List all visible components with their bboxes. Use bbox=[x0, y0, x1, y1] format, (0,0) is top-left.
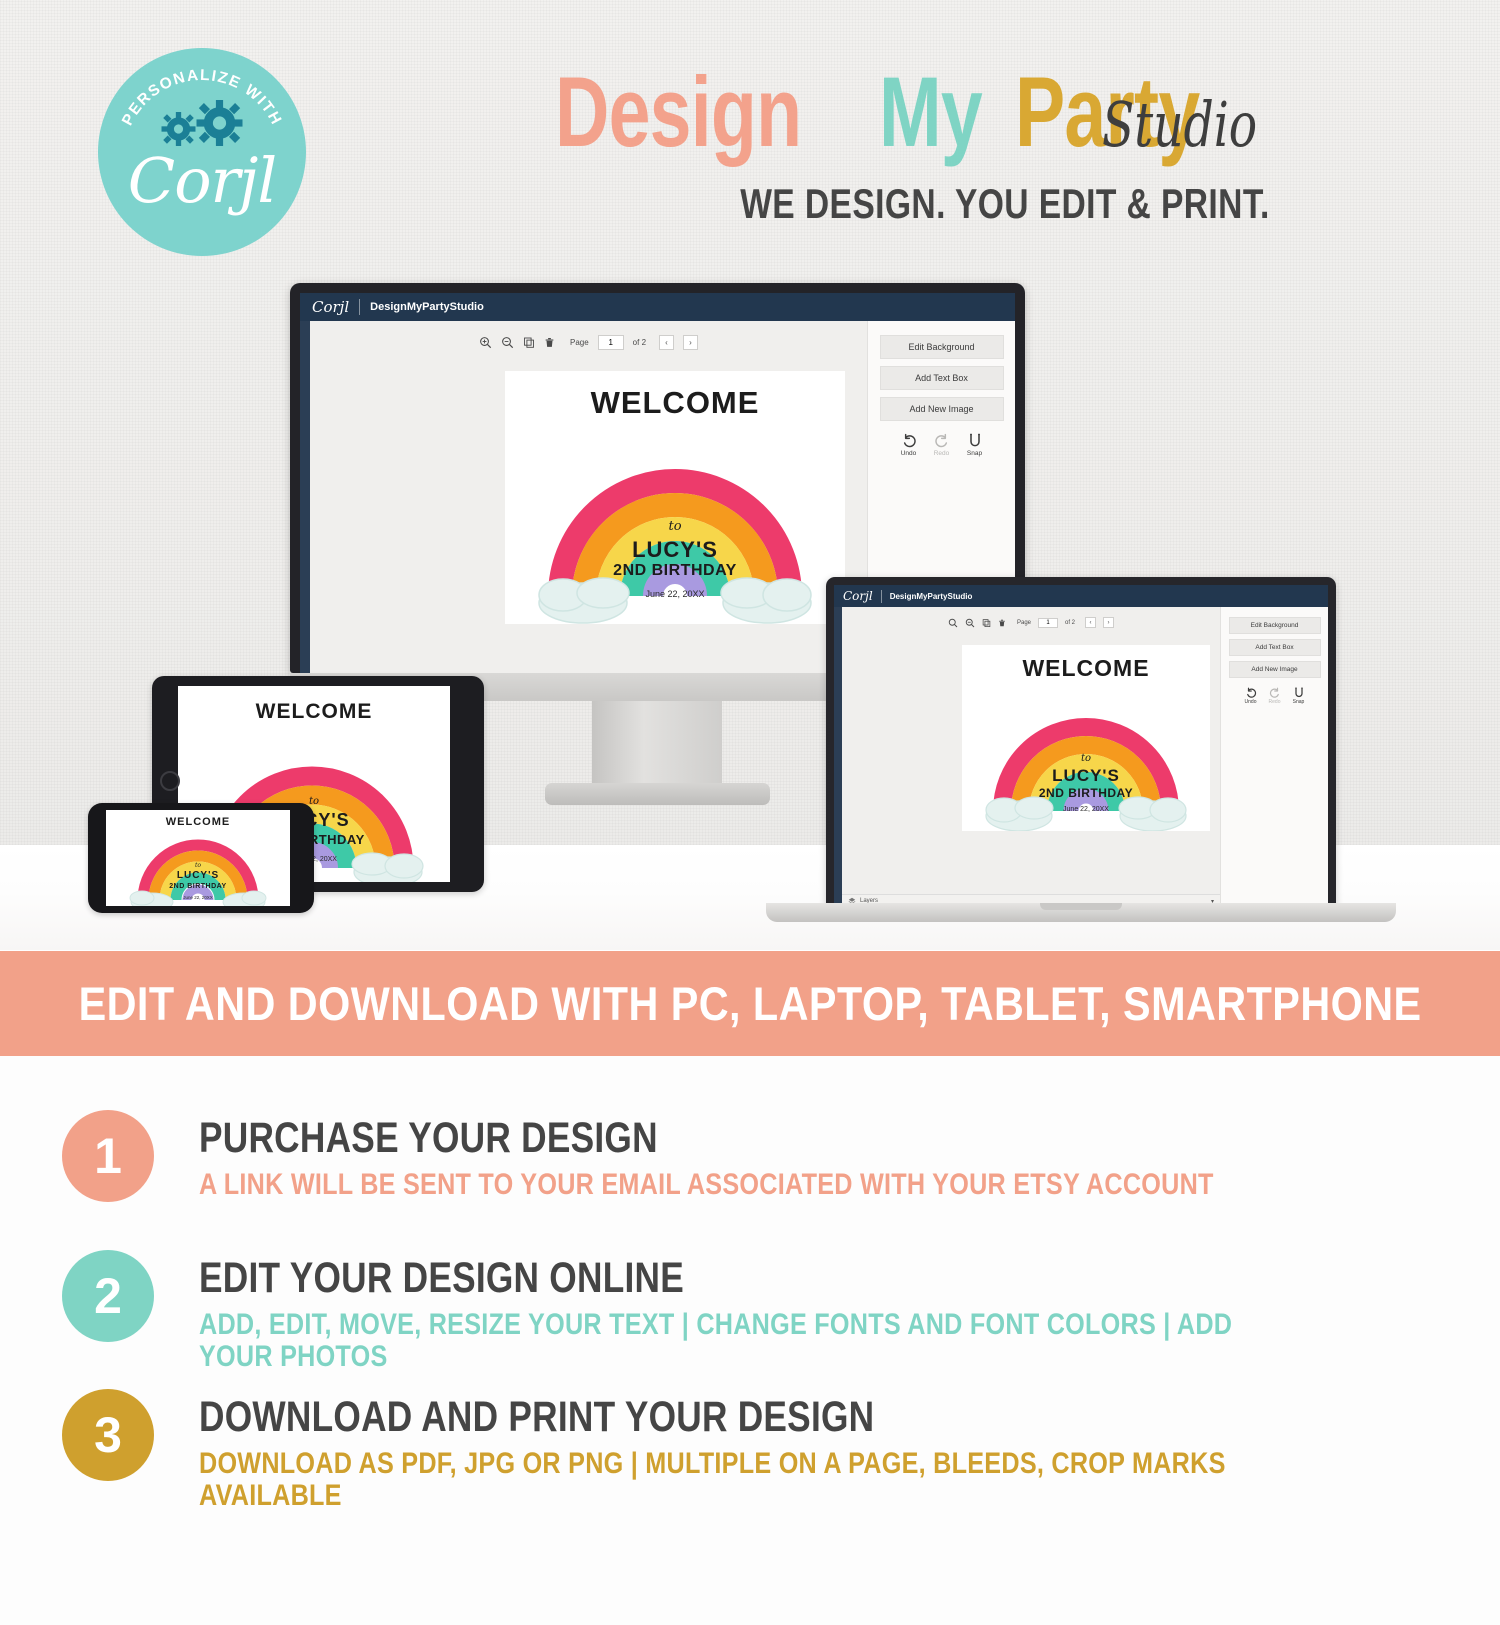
laptop-page-prev-button[interactable]: ‹ bbox=[1085, 617, 1096, 628]
design-to-text: to bbox=[505, 519, 845, 534]
laptop-redo-label: Redo bbox=[1269, 699, 1281, 705]
steps-section: 1 PURCHASE YOUR DESIGN A LINK WILL BE SE… bbox=[0, 1056, 1500, 1625]
step-1-subtitle: A LINK WILL BE SENT TO YOUR EMAIL ASSOCI… bbox=[199, 1169, 1214, 1201]
design-artwork[interactable]: WELCOME to bbox=[505, 371, 845, 624]
editor-brand-label: DesignMyPartyStudio bbox=[370, 301, 484, 313]
laptop-topbar-divider bbox=[881, 590, 882, 603]
laptop-snap-button[interactable]: Snap bbox=[1293, 687, 1305, 705]
add-text-box-button[interactable]: Add Text Box bbox=[880, 366, 1004, 390]
step-2-number-badge: 2 bbox=[62, 1250, 154, 1342]
laptop-redo-icon bbox=[1269, 687, 1281, 699]
laptop-editor-canvas[interactable]: Page 1 of 2 ‹ › WELCOME bbox=[842, 607, 1220, 907]
logo-part-studio: Studio bbox=[1102, 94, 1257, 156]
laptop-editor-right-panel: Edit Background Add Text Box Add New Ima… bbox=[1220, 607, 1328, 907]
page-next-button[interactable]: › bbox=[683, 335, 698, 350]
snap-label: Snap bbox=[967, 450, 982, 457]
laptop-rainbow-illustration bbox=[962, 645, 1210, 831]
design-occasion-text: 2ND BIRTHDAY bbox=[505, 562, 845, 580]
gear-icon-small bbox=[162, 112, 196, 146]
step-3-subtitle: DOWNLOAD AS PDF, JPG OR PNG | MULTIPLE O… bbox=[199, 1448, 1243, 1511]
snap-button[interactable]: Snap bbox=[967, 433, 983, 457]
laptop-page-total-label: of 2 bbox=[1065, 620, 1075, 626]
editor-canvas[interactable]: Page 1 of 2 ‹ › WELCOME bbox=[310, 321, 867, 673]
phone-design-to-text: to bbox=[106, 862, 290, 869]
laptop-design-occasion-text: 2ND BIRTHDAY bbox=[962, 786, 1210, 800]
badge-brand-script: Corjl bbox=[128, 144, 276, 217]
laptop-editor-toolbar: Page 1 of 2 ‹ › bbox=[842, 607, 1220, 628]
step-item-3: 3 DOWNLOAD AND PRINT YOUR DESIGN DOWNLOA… bbox=[62, 1389, 1442, 1511]
redo-button[interactable]: Redo bbox=[934, 433, 950, 457]
laptop-edit-background-button[interactable]: Edit Background bbox=[1229, 617, 1321, 634]
gears-group bbox=[162, 100, 243, 146]
laptop-trash-icon[interactable] bbox=[998, 618, 1006, 628]
laptop-redo-button[interactable]: Redo bbox=[1269, 687, 1281, 705]
edit-background-button[interactable]: Edit Background bbox=[880, 335, 1004, 359]
editor-topbar: Corjl DesignMyPartyStudio bbox=[300, 293, 1015, 321]
phone-design-artwork[interactable]: WELCOME to LUCY'S 2ND BIRTHDAY June 22, … bbox=[106, 810, 290, 906]
step-1-number-badge: 1 bbox=[62, 1110, 154, 1202]
laptop-snap-label: Snap bbox=[1293, 699, 1305, 705]
logo-part-my: My bbox=[879, 62, 982, 161]
redo-icon bbox=[934, 433, 950, 449]
editor-left-rail[interactable] bbox=[300, 321, 310, 673]
step-item-2: 2 EDIT YOUR DESIGN ONLINE ADD, EDIT, MOV… bbox=[62, 1250, 1442, 1372]
laptop-design-name-text: LUCY'S bbox=[962, 766, 1210, 786]
undo-button[interactable]: Undo bbox=[901, 433, 917, 457]
laptop-undo-label: Undo bbox=[1245, 699, 1257, 705]
step-1-title: PURCHASE YOUR DESIGN bbox=[199, 1116, 658, 1161]
laptop-design-date-text: June 22, 20XX bbox=[962, 806, 1210, 813]
laptop-editor-corjl-logo: Corjl bbox=[843, 589, 873, 603]
phone-design-name-text: LUCY'S bbox=[106, 870, 290, 881]
laptop-editor-topbar: Corjl DesignMyPartyStudio bbox=[834, 585, 1328, 607]
phone-design-date-text: June 22, 20XX bbox=[106, 895, 290, 900]
add-new-image-button[interactable]: Add New Image bbox=[880, 397, 1004, 421]
laptop-editor-action-row: Undo Redo Snap bbox=[1245, 687, 1305, 705]
phone-design-occasion-text: 2ND BIRTHDAY bbox=[106, 883, 290, 890]
laptop-design-to-text: to bbox=[962, 753, 1210, 764]
laptop-editor-left-rail[interactable] bbox=[834, 607, 842, 907]
laptop-undo-button[interactable]: Undo bbox=[1245, 687, 1257, 705]
corjl-badge: PERSONALIZE WITH bbox=[98, 48, 306, 256]
laptop-zoom-out-icon[interactable] bbox=[965, 618, 975, 628]
laptop-add-new-image-button[interactable]: Add New Image bbox=[1229, 661, 1321, 678]
design-name-text: LUCY'S bbox=[505, 537, 845, 563]
redo-label: Redo bbox=[934, 450, 950, 457]
gear-icon-large bbox=[197, 100, 243, 146]
monitor-stand-neck bbox=[592, 701, 722, 785]
laptop-duplicate-icon[interactable] bbox=[982, 618, 991, 628]
laptop-add-text-box-button[interactable]: Add Text Box bbox=[1229, 639, 1321, 656]
laptop-base-notch bbox=[1040, 903, 1122, 910]
undo-icon bbox=[901, 433, 917, 449]
laptop-screen: Corjl DesignMyPartyStudio Page 1 of 2 ‹ … bbox=[834, 585, 1328, 907]
logo-part-design: Design bbox=[555, 62, 801, 161]
page-number-input[interactable]: 1 bbox=[598, 335, 624, 350]
laptop-page-next-button[interactable]: › bbox=[1103, 617, 1114, 628]
laptop-page-label: Page bbox=[1017, 620, 1031, 626]
phone-screen: WELCOME to LUCY'S 2ND BIRTHDAY June 22, … bbox=[106, 810, 290, 906]
step-3-title: DOWNLOAD AND PRINT YOUR DESIGN bbox=[199, 1395, 874, 1440]
laptop-page-number-input[interactable]: 1 bbox=[1038, 618, 1058, 628]
zoom-out-icon[interactable] bbox=[501, 336, 514, 349]
page-prev-button[interactable]: ‹ bbox=[659, 335, 674, 350]
monitor-stand-base bbox=[545, 783, 770, 805]
page-label: Page bbox=[570, 338, 589, 347]
editor-toolbar: Page 1 of 2 ‹ › bbox=[310, 321, 867, 350]
tablet-home-button[interactable] bbox=[160, 771, 180, 791]
editor-action-row: Undo Redo Snap bbox=[901, 433, 983, 457]
duplicate-icon[interactable] bbox=[523, 336, 535, 349]
snap-icon bbox=[967, 433, 983, 449]
trash-icon[interactable] bbox=[544, 336, 555, 349]
undo-label: Undo bbox=[901, 450, 917, 457]
devices-banner-text: EDIT AND DOWNLOAD WITH PC, LAPTOP, TABLE… bbox=[79, 976, 1422, 1031]
rainbow-illustration bbox=[505, 371, 845, 624]
design-date-text: June 22, 20XX bbox=[505, 589, 845, 599]
topbar-divider bbox=[359, 299, 360, 315]
brand-tagline: WE DESIGN. YOU EDIT & PRINT. bbox=[555, 180, 1455, 228]
laptop-design-artwork[interactable]: WELCOME to bbox=[962, 645, 1210, 831]
step-item-1: 1 PURCHASE YOUR DESIGN A LINK WILL BE SE… bbox=[62, 1110, 1442, 1202]
step-2-title: EDIT YOUR DESIGN ONLINE bbox=[199, 1256, 684, 1301]
laptop-undo-icon bbox=[1245, 687, 1257, 699]
laptop-zoom-in-icon[interactable] bbox=[948, 618, 958, 628]
step-3-number-badge: 3 bbox=[62, 1389, 154, 1481]
zoom-in-icon[interactable] bbox=[479, 336, 492, 349]
step-2-subtitle: ADD, EDIT, MOVE, RESIZE YOUR TEXT | CHAN… bbox=[199, 1309, 1243, 1372]
page-total-label: of 2 bbox=[633, 338, 646, 347]
phone-mockup: WELCOME to LUCY'S 2ND BIRTHDAY June 22, … bbox=[88, 803, 314, 913]
laptop-snap-icon bbox=[1293, 687, 1305, 699]
laptop-mockup: Corjl DesignMyPartyStudio Page 1 of 2 ‹ … bbox=[826, 577, 1336, 907]
editor-corjl-logo: Corjl bbox=[312, 298, 349, 316]
phone-rainbow-illustration bbox=[106, 810, 290, 906]
brand-logo: Design My Party Studio bbox=[555, 62, 1455, 161]
laptop-editor-brand-label: DesignMyPartyStudio bbox=[890, 592, 973, 601]
devices-banner: EDIT AND DOWNLOAD WITH PC, LAPTOP, TABLE… bbox=[0, 951, 1500, 1056]
brand-tagline-text: WE DESIGN. YOU EDIT & PRINT. bbox=[740, 180, 1270, 228]
